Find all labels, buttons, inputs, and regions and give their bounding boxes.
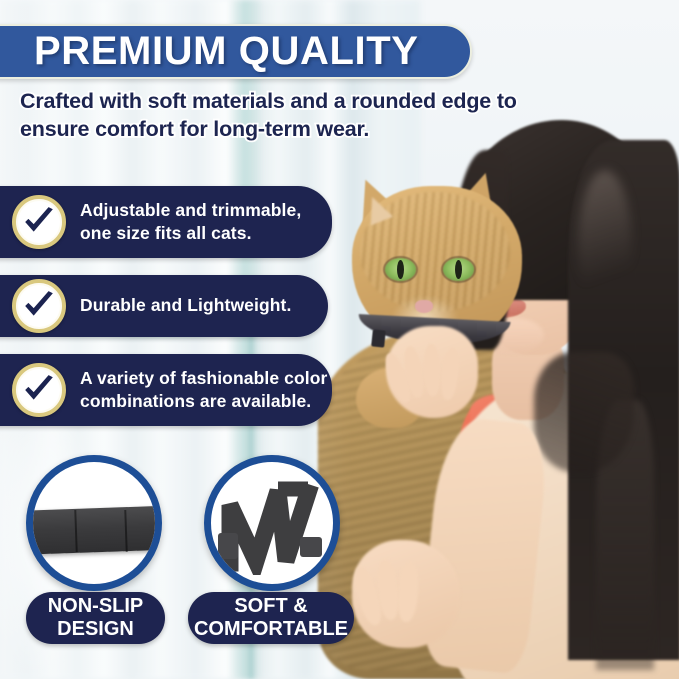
feature-bullet-1-label: Adjustable and trimmable, one size fits … bbox=[80, 199, 332, 246]
header-banner: PREMIUM QUALITY bbox=[0, 24, 472, 79]
feature-bullet-3-label: A variety of fashionable color combinati… bbox=[80, 367, 332, 414]
highlight-label-non-slip: NON-SLIP DESIGN bbox=[26, 592, 165, 644]
marketing-overlay: PREMIUM QUALITY Crafted with soft materi… bbox=[0, 0, 679, 679]
highlight-circle-soft-comfortable bbox=[204, 455, 340, 591]
feature-bullet-2-label: Durable and Lightweight. bbox=[80, 294, 291, 317]
feature-bullet-1: Adjustable and trimmable, one size fits … bbox=[0, 186, 332, 258]
feature-bullet-2: Durable and Lightweight. bbox=[0, 275, 328, 337]
checkmark-icon bbox=[12, 279, 66, 333]
feature-bullet-3: A variety of fashionable color combinati… bbox=[0, 354, 332, 426]
subtitle-text: Crafted with soft materials and a rounde… bbox=[20, 88, 540, 144]
harness-strap-icon bbox=[211, 462, 333, 584]
highlight-circle-non-slip bbox=[26, 455, 162, 591]
checkmark-icon bbox=[12, 195, 66, 249]
collar-strap-icon bbox=[26, 505, 162, 555]
page-title: PREMIUM QUALITY bbox=[34, 29, 419, 74]
highlight-label-soft-comfortable: SOFT & COMFORTABLE bbox=[188, 592, 354, 644]
checkmark-icon bbox=[12, 363, 66, 417]
